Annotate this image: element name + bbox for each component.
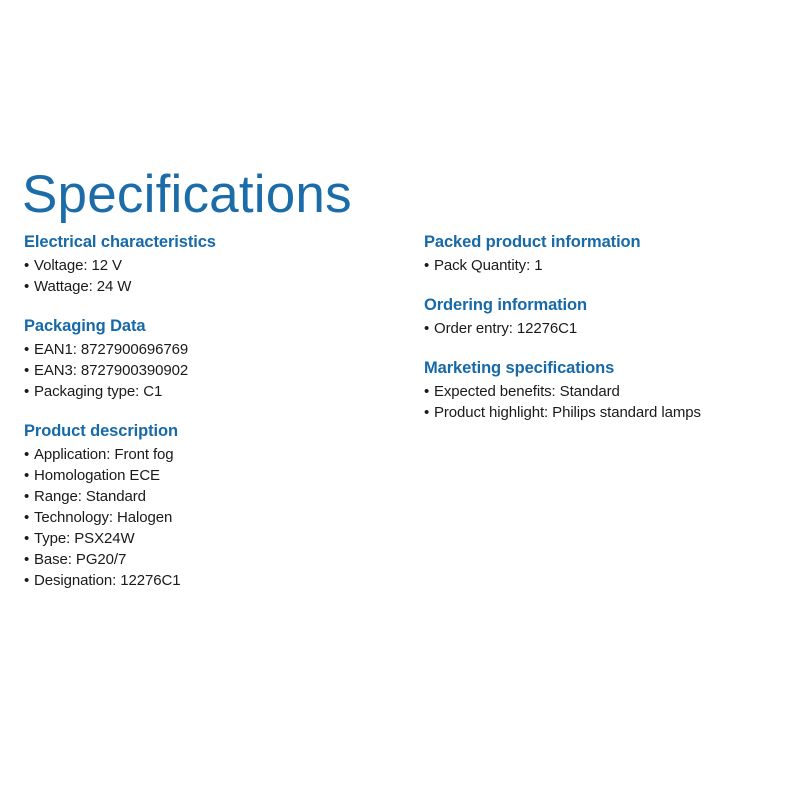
list-item: •Voltage: 12 V <box>24 255 404 276</box>
block-heading-marketing-specifications: Marketing specifications <box>424 358 784 379</box>
bullet-list-marketing-specifications: •Expected benefits: Standard•Product hig… <box>424 381 784 423</box>
list-item: •Designation: 12276C1 <box>24 570 404 591</box>
bullet-dot-icon: • <box>24 444 29 465</box>
bullet-dot-icon: • <box>24 255 29 276</box>
list-item: •Pack Quantity: 1 <box>424 255 784 276</box>
list-item: •EAN3: 8727900390902 <box>24 360 404 381</box>
bullet-dot-icon: • <box>424 381 429 402</box>
bullet-list-packed-product-information: •Pack Quantity: 1 <box>424 255 784 276</box>
list-item: •Type: PSX24W <box>24 528 404 549</box>
spec-block-product-description: Product description•Application: Front f… <box>24 421 404 591</box>
list-item: •Application: Front fog <box>24 444 404 465</box>
list-item: •Homologation ECE <box>24 465 404 486</box>
bullet-dot-icon: • <box>24 507 29 528</box>
list-item-label: EAN3: 8727900390902 <box>34 362 188 379</box>
bullet-dot-icon: • <box>424 318 429 339</box>
spec-block-marketing-specifications: Marketing specifications•Expected benefi… <box>424 358 784 423</box>
list-item: •Wattage: 24 W <box>24 276 404 297</box>
bullet-dot-icon: • <box>24 276 29 297</box>
list-item-label: Base: PG20/7 <box>34 551 126 568</box>
specifications-column-right: Packed product information•Pack Quantity… <box>424 232 784 423</box>
bullet-list-packaging-data: •EAN1: 8727900696769•EAN3: 8727900390902… <box>24 339 404 402</box>
block-heading-product-description: Product description <box>24 421 404 442</box>
block-heading-electrical-characteristics: Electrical characteristics <box>24 232 404 253</box>
block-heading-packaging-data: Packaging Data <box>24 316 404 337</box>
list-item-label: Technology: Halogen <box>34 509 172 526</box>
bullet-dot-icon: • <box>24 528 29 549</box>
list-item: •Base: PG20/7 <box>24 549 404 570</box>
spec-block-packed-product-information: Packed product information•Pack Quantity… <box>424 232 784 276</box>
bullet-dot-icon: • <box>24 549 29 570</box>
list-item-label: Voltage: 12 V <box>34 257 122 274</box>
bullet-dot-icon: • <box>24 486 29 507</box>
bullet-list-product-description: •Application: Front fog•Homologation ECE… <box>24 444 404 591</box>
list-item: •Technology: Halogen <box>24 507 404 528</box>
bullet-list-ordering-information: •Order entry: 12276C1 <box>424 318 784 339</box>
list-item: •Range: Standard <box>24 486 404 507</box>
list-item-label: Wattage: 24 W <box>34 278 131 295</box>
list-item-label: Packaging type: C1 <box>34 383 162 400</box>
bullet-list-electrical-characteristics: •Voltage: 12 V•Wattage: 24 W <box>24 255 404 297</box>
list-item-label: Product highlight: Philips standard lamp… <box>434 404 701 421</box>
spec-block-electrical-characteristics: Electrical characteristics•Voltage: 12 V… <box>24 232 404 297</box>
list-item-label: Order entry: 12276C1 <box>434 320 577 337</box>
list-item: •Packaging type: C1 <box>24 381 404 402</box>
spec-block-ordering-information: Ordering information•Order entry: 12276C… <box>424 295 784 339</box>
block-heading-ordering-information: Ordering information <box>424 295 784 316</box>
list-item: •Product highlight: Philips standard lam… <box>424 402 784 423</box>
list-item-label: Pack Quantity: 1 <box>434 257 542 274</box>
bullet-dot-icon: • <box>24 570 29 591</box>
list-item: •EAN1: 8727900696769 <box>24 339 404 360</box>
bullet-dot-icon: • <box>424 402 429 423</box>
bullet-dot-icon: • <box>424 255 429 276</box>
list-item: •Expected benefits: Standard <box>424 381 784 402</box>
bullet-dot-icon: • <box>24 339 29 360</box>
bullet-dot-icon: • <box>24 360 29 381</box>
specifications-column-left: Electrical characteristics•Voltage: 12 V… <box>24 232 404 591</box>
bullet-dot-icon: • <box>24 381 29 402</box>
list-item-label: Type: PSX24W <box>34 530 135 547</box>
list-item-label: Range: Standard <box>34 488 146 505</box>
list-item: •Order entry: 12276C1 <box>424 318 784 339</box>
bullet-dot-icon: • <box>24 465 29 486</box>
spec-block-packaging-data: Packaging Data•EAN1: 8727900696769•EAN3:… <box>24 316 404 402</box>
list-item-label: EAN1: 8727900696769 <box>34 341 188 358</box>
page-title: Specifications <box>22 164 352 226</box>
list-item-label: Application: Front fog <box>34 446 174 463</box>
specifications-page: Specifications Electrical characteristic… <box>0 0 800 800</box>
list-item-label: Designation: 12276C1 <box>34 572 180 589</box>
list-item-label: Expected benefits: Standard <box>434 383 620 400</box>
list-item-label: Homologation ECE <box>34 467 160 484</box>
block-heading-packed-product-information: Packed product information <box>424 232 784 253</box>
